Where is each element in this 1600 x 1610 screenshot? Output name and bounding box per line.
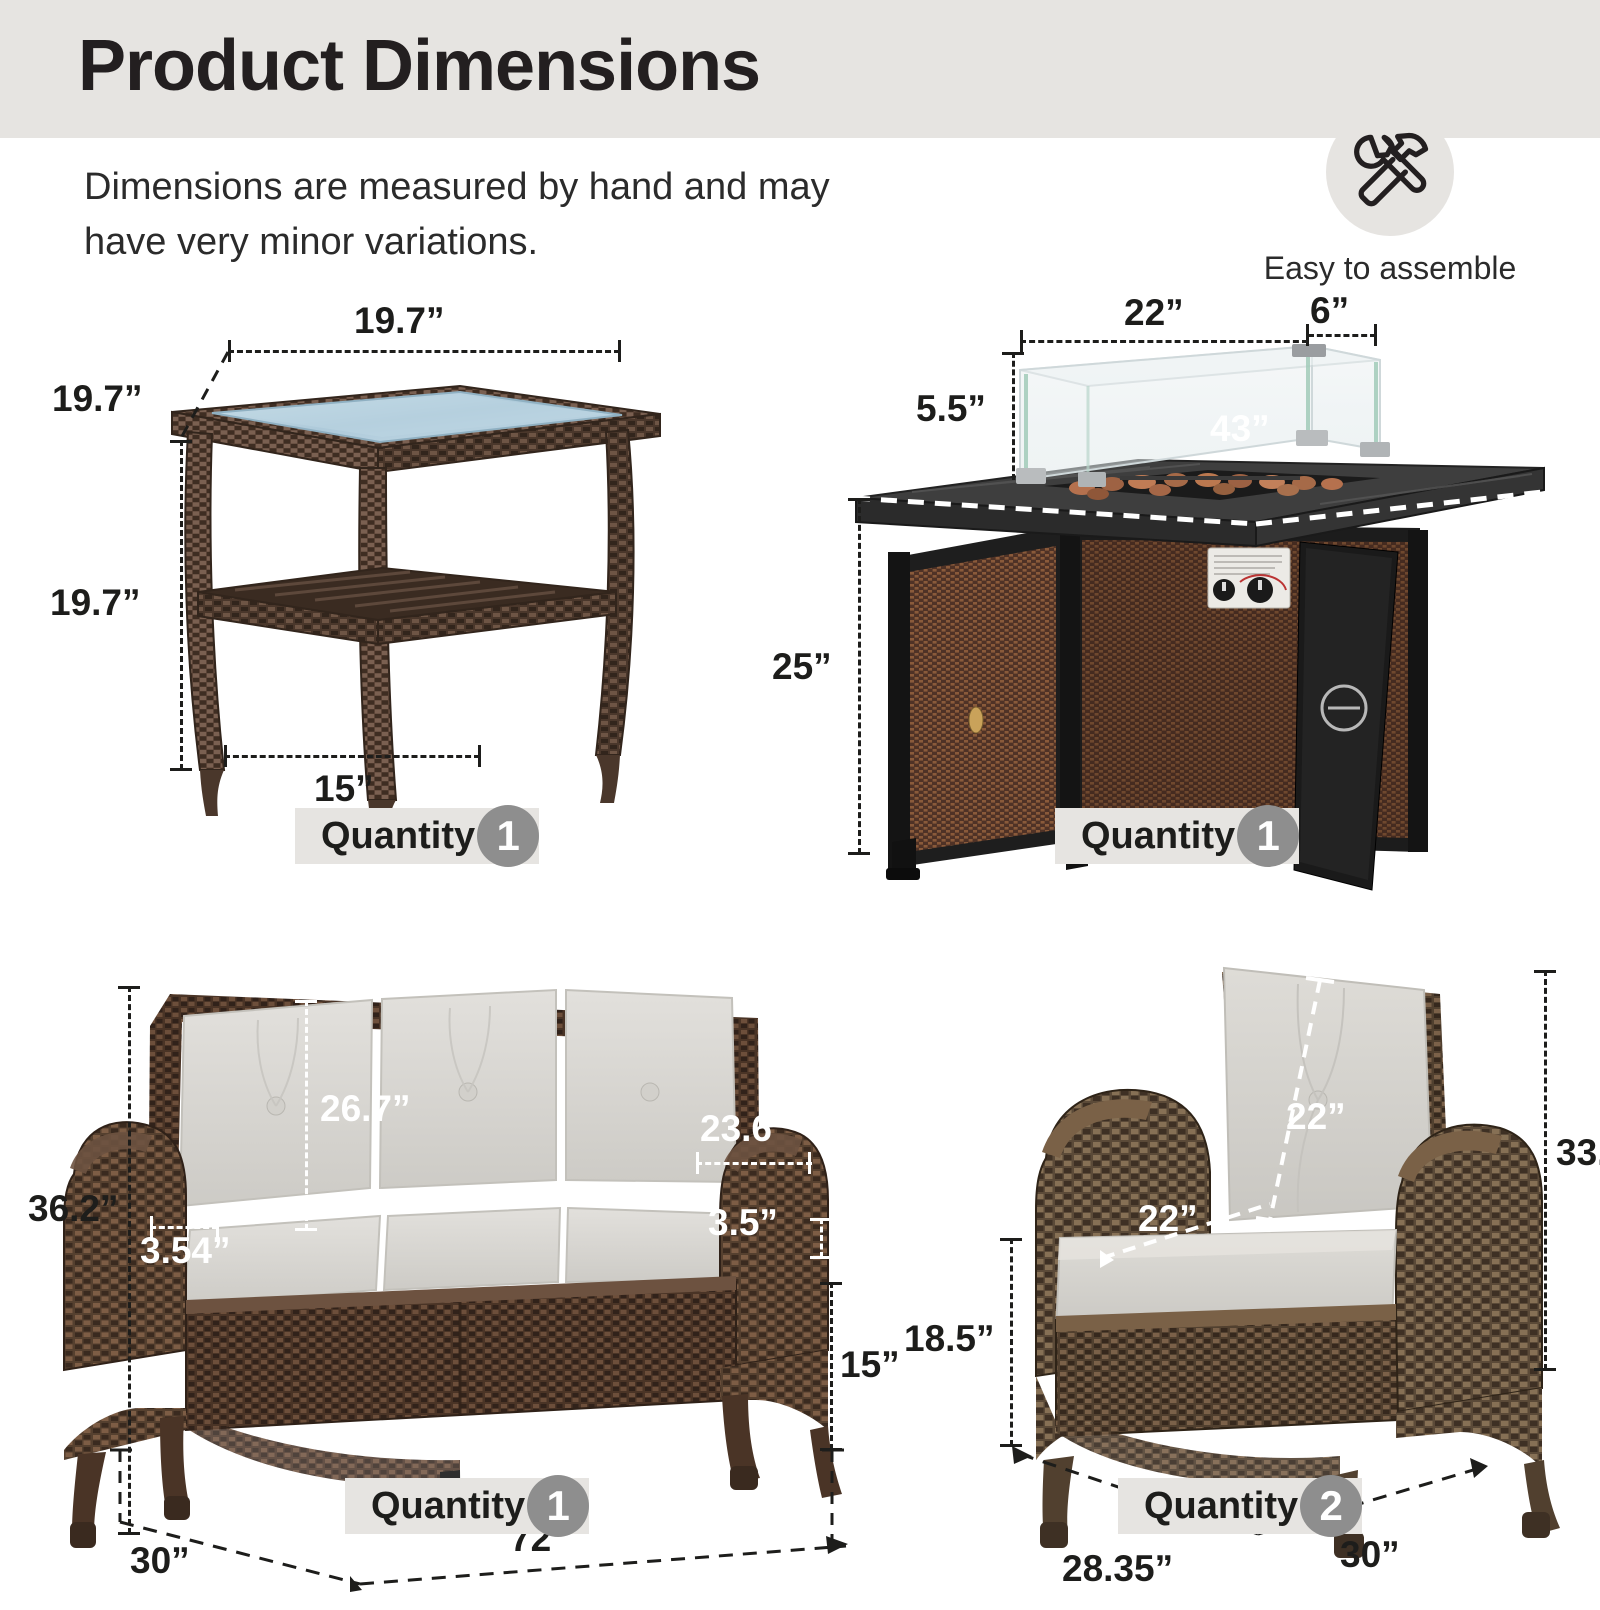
dim-chair-depth: 30” <box>1340 1534 1400 1576</box>
dimcap-ch-top <box>1534 970 1556 973</box>
dimline-chair-seat-height <box>1010 1238 1013 1446</box>
dim-fire-pit-glass-end: 6” <box>1310 290 1349 332</box>
dim-chair-width: 28.35” <box>1062 1548 1173 1590</box>
dimcap-csh-top <box>1000 1238 1022 1241</box>
dimline-sofa-seat-height <box>830 1282 833 1450</box>
dimline-height <box>180 440 183 770</box>
dimcap-bh-top <box>295 1000 317 1003</box>
dim-fire-pit-table-depth: 22” <box>936 420 996 462</box>
dimline-sofa-cushion-thickness <box>820 1218 823 1258</box>
dimline-table-height <box>858 498 861 854</box>
dimline-chair-seat-depth <box>1080 1192 1380 1302</box>
dimcap-base-left <box>224 745 227 767</box>
dimcap-th-top <box>848 498 870 501</box>
dim-sofa-seat-depth: 23.6” <box>700 1108 791 1150</box>
dimcap-right <box>618 340 621 362</box>
dim-fire-pit-table-length: 43” <box>1210 408 1270 450</box>
quantity-badge-armchair: Quantity 2 <box>1118 1478 1362 1534</box>
dimline-top-depth <box>170 348 290 488</box>
dimline-sofa-seat-depth <box>696 1162 812 1165</box>
quantity-value: 1 <box>527 1475 589 1537</box>
side-table-illustration <box>60 300 760 890</box>
dim-chair-back-height: 22” <box>1286 1096 1346 1138</box>
dimcap-ge-right <box>1374 324 1377 346</box>
dimcap-gh-top <box>1002 352 1024 355</box>
dim-sofa-seat-height: 15” <box>840 1344 900 1386</box>
dimline-glass-height <box>1012 352 1015 480</box>
dimline-glass-end <box>1308 334 1376 337</box>
dim-side-table-base-width: 15” <box>314 768 374 810</box>
dimcap-sd-left <box>696 1152 699 1174</box>
dimcap-th-bottom <box>848 852 870 855</box>
product-panel-side-table: 19.7” 19.7” 19.7” 15” Quantity 1 <box>60 300 760 890</box>
quantity-label: Quantity <box>321 815 475 858</box>
dimline-sofa-back-height <box>305 1000 308 1230</box>
dimline-table-front-edge <box>820 480 1580 600</box>
quantity-value: 2 <box>1300 1475 1362 1537</box>
dim-chair-seat-height: 18.5” <box>904 1318 995 1360</box>
easy-to-assemble: Easy to assemble <box>1245 108 1535 287</box>
dimcap-gl-left <box>1020 330 1023 352</box>
product-panel-sofa: 36.2” 26.7” 3.54” 23.6” 3.5” 15” 30” 72”… <box>20 930 880 1570</box>
dimline-chair-height <box>1544 970 1547 1370</box>
quantity-value: 1 <box>1237 805 1299 867</box>
quantity-label: Quantity <box>1144 1485 1298 1528</box>
dim-sofa-arm-width: 3.54” <box>140 1230 231 1272</box>
dim-fire-pit-glass-length: 22” <box>1124 292 1184 334</box>
dimline-glass-length <box>1020 340 1308 343</box>
dim-sofa-back-height: 26.7” <box>320 1088 411 1130</box>
dim-fire-pit-table-height: 25” <box>772 646 832 688</box>
dimcap-bh-bottom <box>295 1228 317 1231</box>
page-title: Product Dimensions <box>78 30 760 102</box>
dimcap-base-right <box>478 745 481 767</box>
dim-sofa-overall-height: 36.2” <box>28 1188 119 1230</box>
quantity-label: Quantity <box>371 1485 525 1528</box>
dimcap-top <box>170 440 192 443</box>
dim-chair-seat-depth: 22” <box>1138 1198 1198 1240</box>
dimline-sofa-arm-width <box>150 1226 218 1229</box>
dimcap-ch-bottom <box>1534 1368 1556 1371</box>
assemble-label: Easy to assemble <box>1245 250 1535 287</box>
dimcap-bottom <box>170 768 192 771</box>
dim-side-table-height: 19.7” <box>50 582 141 624</box>
dimcap-sh-top <box>118 986 140 989</box>
quantity-badge-fire-pit-table: Quantity 1 <box>1055 808 1299 864</box>
dim-sofa-cushion-thickness: 3.5” <box>708 1202 778 1244</box>
dimcap-sd-right <box>808 1152 811 1174</box>
quantity-badge-side-table: Quantity 1 <box>295 808 539 864</box>
product-panel-fire-pit-table: 22” 6” 5.5” 22” 43” 25” Quantity 1 <box>820 290 1580 890</box>
dimline-base-width <box>224 755 480 758</box>
quantity-value: 1 <box>477 805 539 867</box>
dim-sofa-depth: 30” <box>130 1540 190 1582</box>
page-subtitle: Dimensions are measured by hand and may … <box>84 160 904 270</box>
product-panel-armchair: 22” 22” 33.4” 18.5” 28.35” 30” Quantity … <box>940 920 1600 1570</box>
dim-side-table-top-depth: 19.7” <box>52 378 143 420</box>
wrench-hammer-icon <box>1342 124 1438 220</box>
quantity-badge-sofa: Quantity 1 <box>345 1478 589 1534</box>
quantity-label: Quantity <box>1081 815 1235 858</box>
assemble-icon-circle <box>1326 108 1454 236</box>
dimcap-sth-top <box>820 1282 842 1285</box>
dim-chair-overall-height: 33.4” <box>1556 1132 1600 1174</box>
dim-side-table-top-width: 19.7” <box>354 300 445 342</box>
